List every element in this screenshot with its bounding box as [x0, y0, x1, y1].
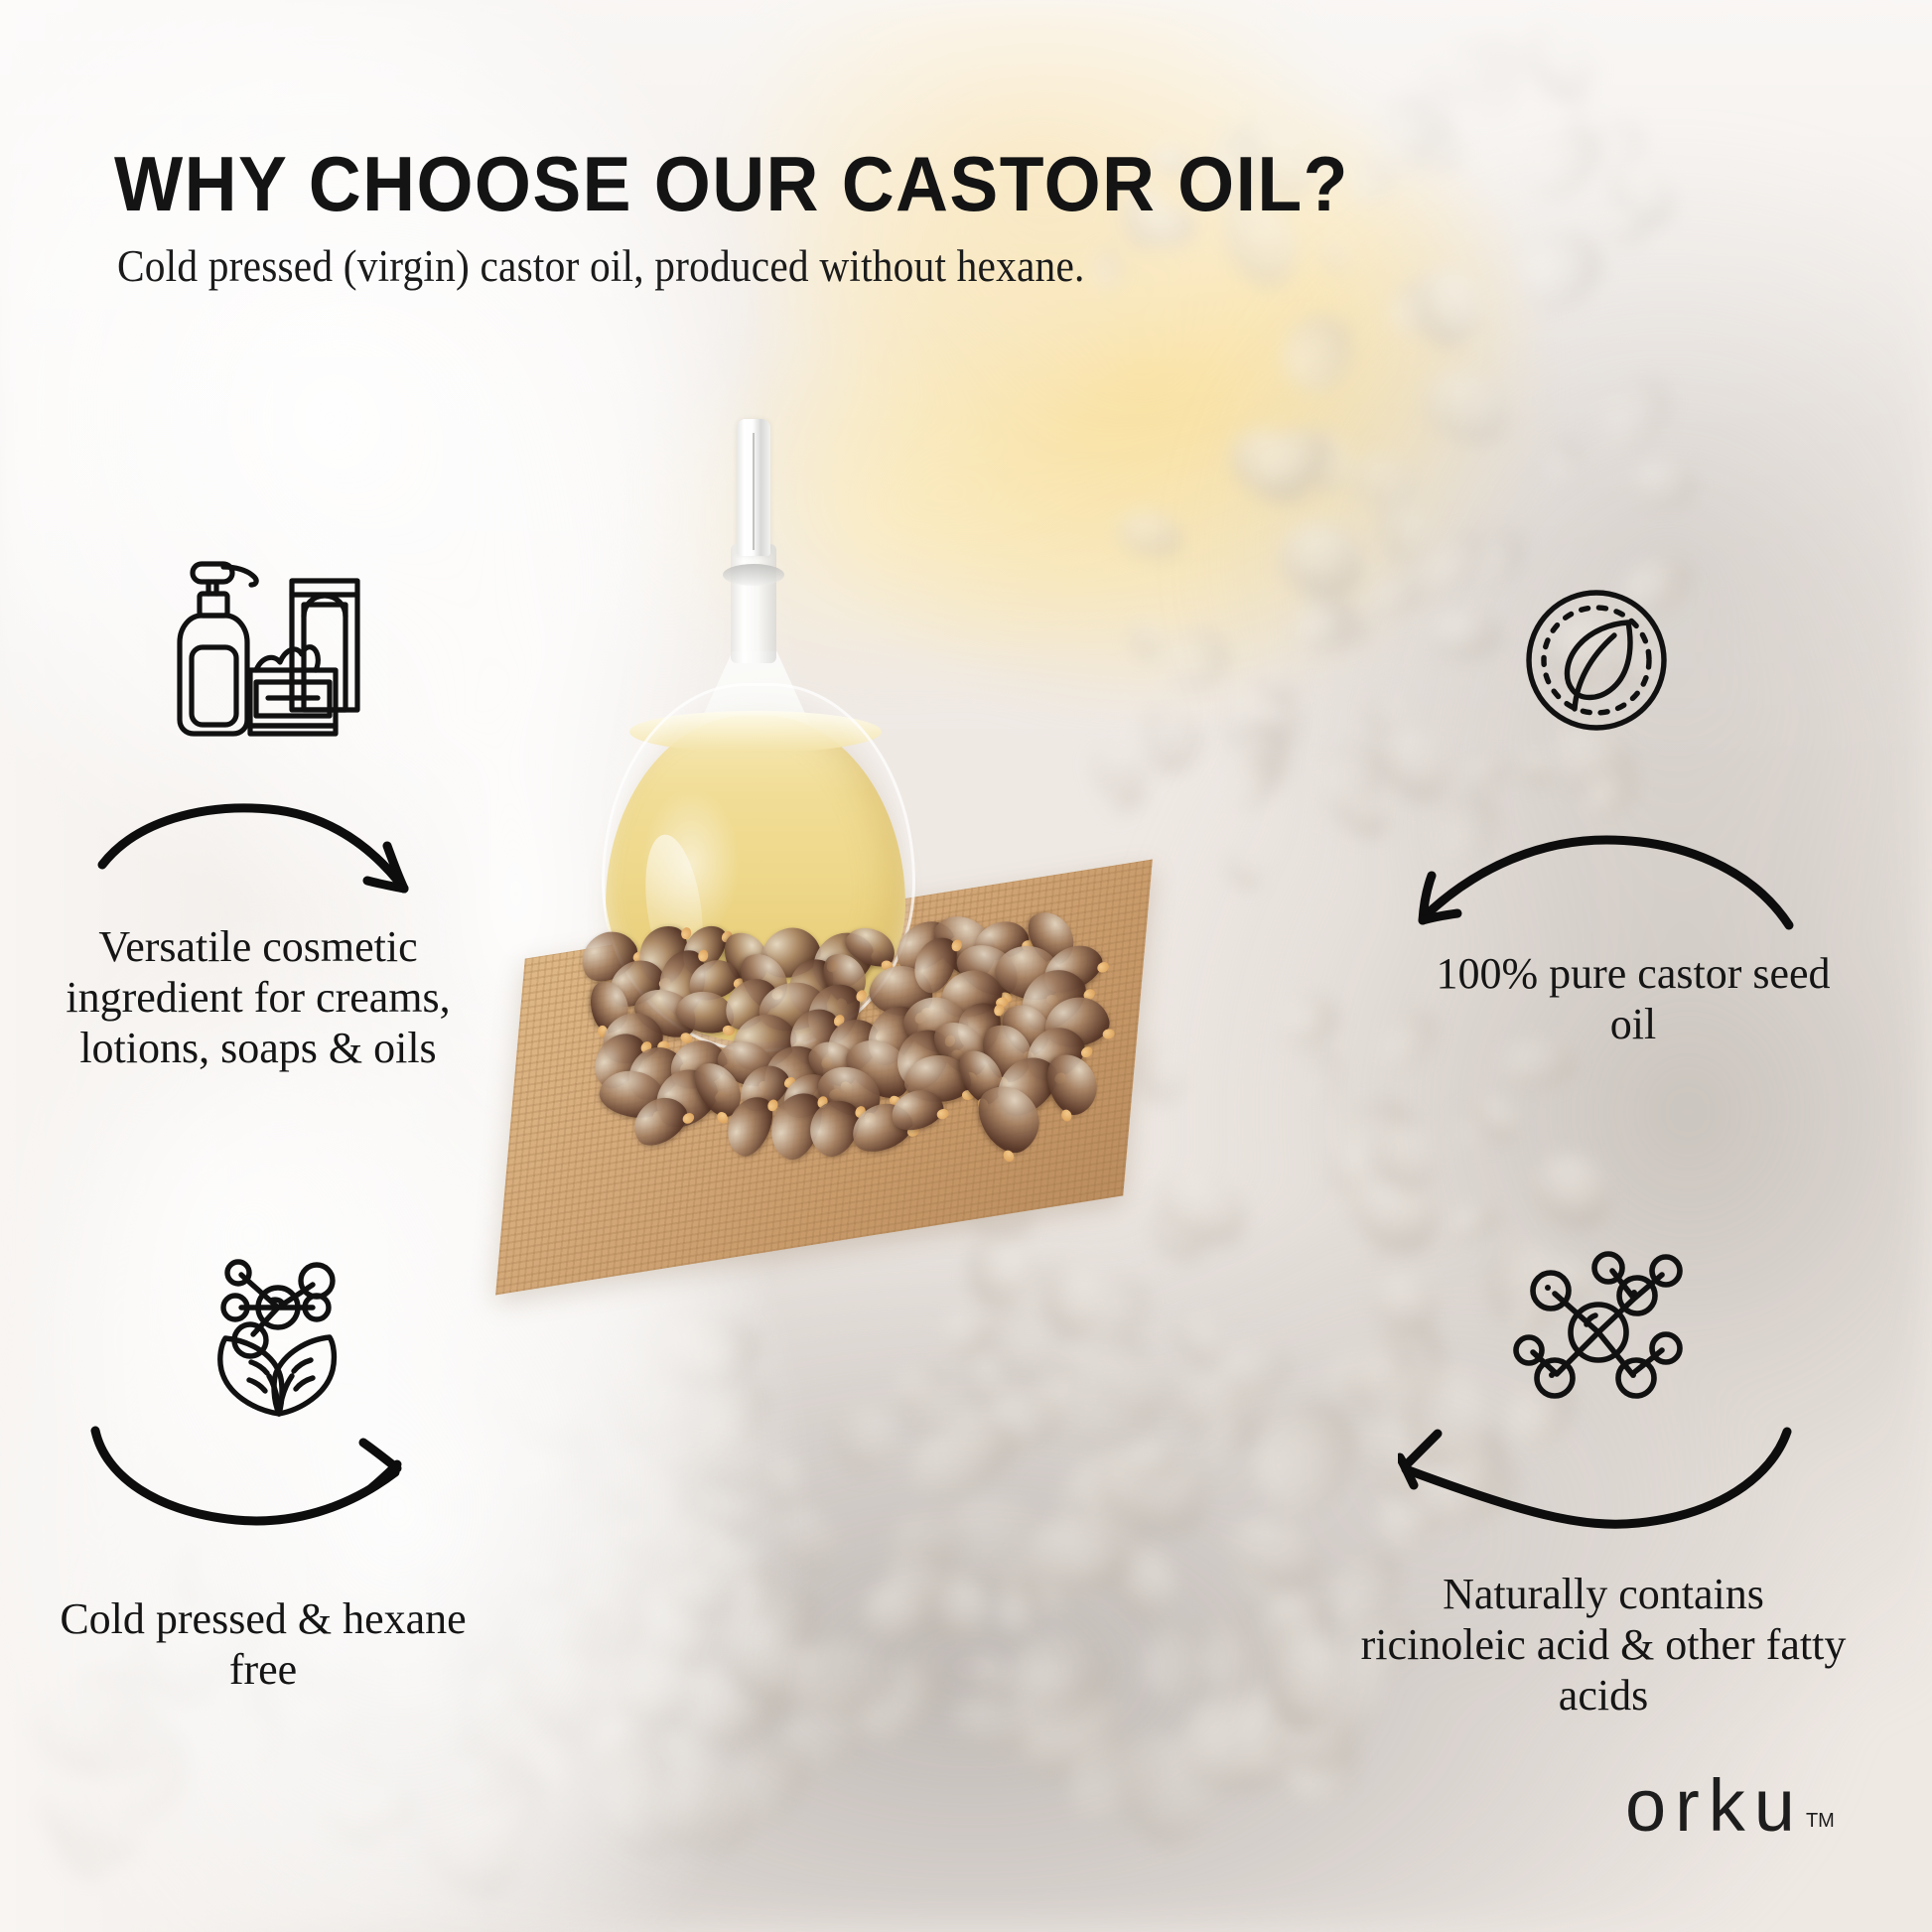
leaf-badge-icon [1517, 581, 1676, 745]
curved-arrow-right-icon [94, 799, 422, 913]
molecule-leaves-icon [194, 1253, 367, 1432]
brand-logo: orkuTM [1625, 1769, 1835, 1843]
feature-label: Cold pressed & hexane free [30, 1593, 496, 1695]
feature-label: 100% pure castor seed oil [1420, 948, 1847, 1049]
curved-arrow-right-icon [87, 1415, 415, 1539]
curved-arrow-left-icon [1402, 834, 1799, 948]
molecule-icon [1507, 1249, 1691, 1423]
cosmetics-bottles-icon [139, 551, 367, 745]
bottle-stopper [737, 419, 770, 556]
brand-name: orku [1625, 1764, 1804, 1847]
feature-label: Naturally contains ricinoleic acid & oth… [1360, 1569, 1847, 1721]
infographic-canvas: WHY CHOOSE OUR CASTOR OIL? Cold pressed … [0, 0, 1932, 1932]
castor-seed-pile [586, 933, 1102, 1162]
feature-label: Versatile cosmetic ingredient for creams… [25, 921, 491, 1073]
bottle-collar [723, 564, 784, 586]
trademark-symbol: TM [1806, 1810, 1835, 1832]
page-title: WHY CHOOSE OUR CASTOR OIL? [114, 139, 1645, 229]
bottle-neck [731, 544, 776, 663]
product-photo [556, 417, 1350, 1281]
curved-arrow-left-icon [1398, 1420, 1795, 1544]
page-subtitle: Cold pressed (virgin) castor oil, produc… [117, 240, 1487, 292]
